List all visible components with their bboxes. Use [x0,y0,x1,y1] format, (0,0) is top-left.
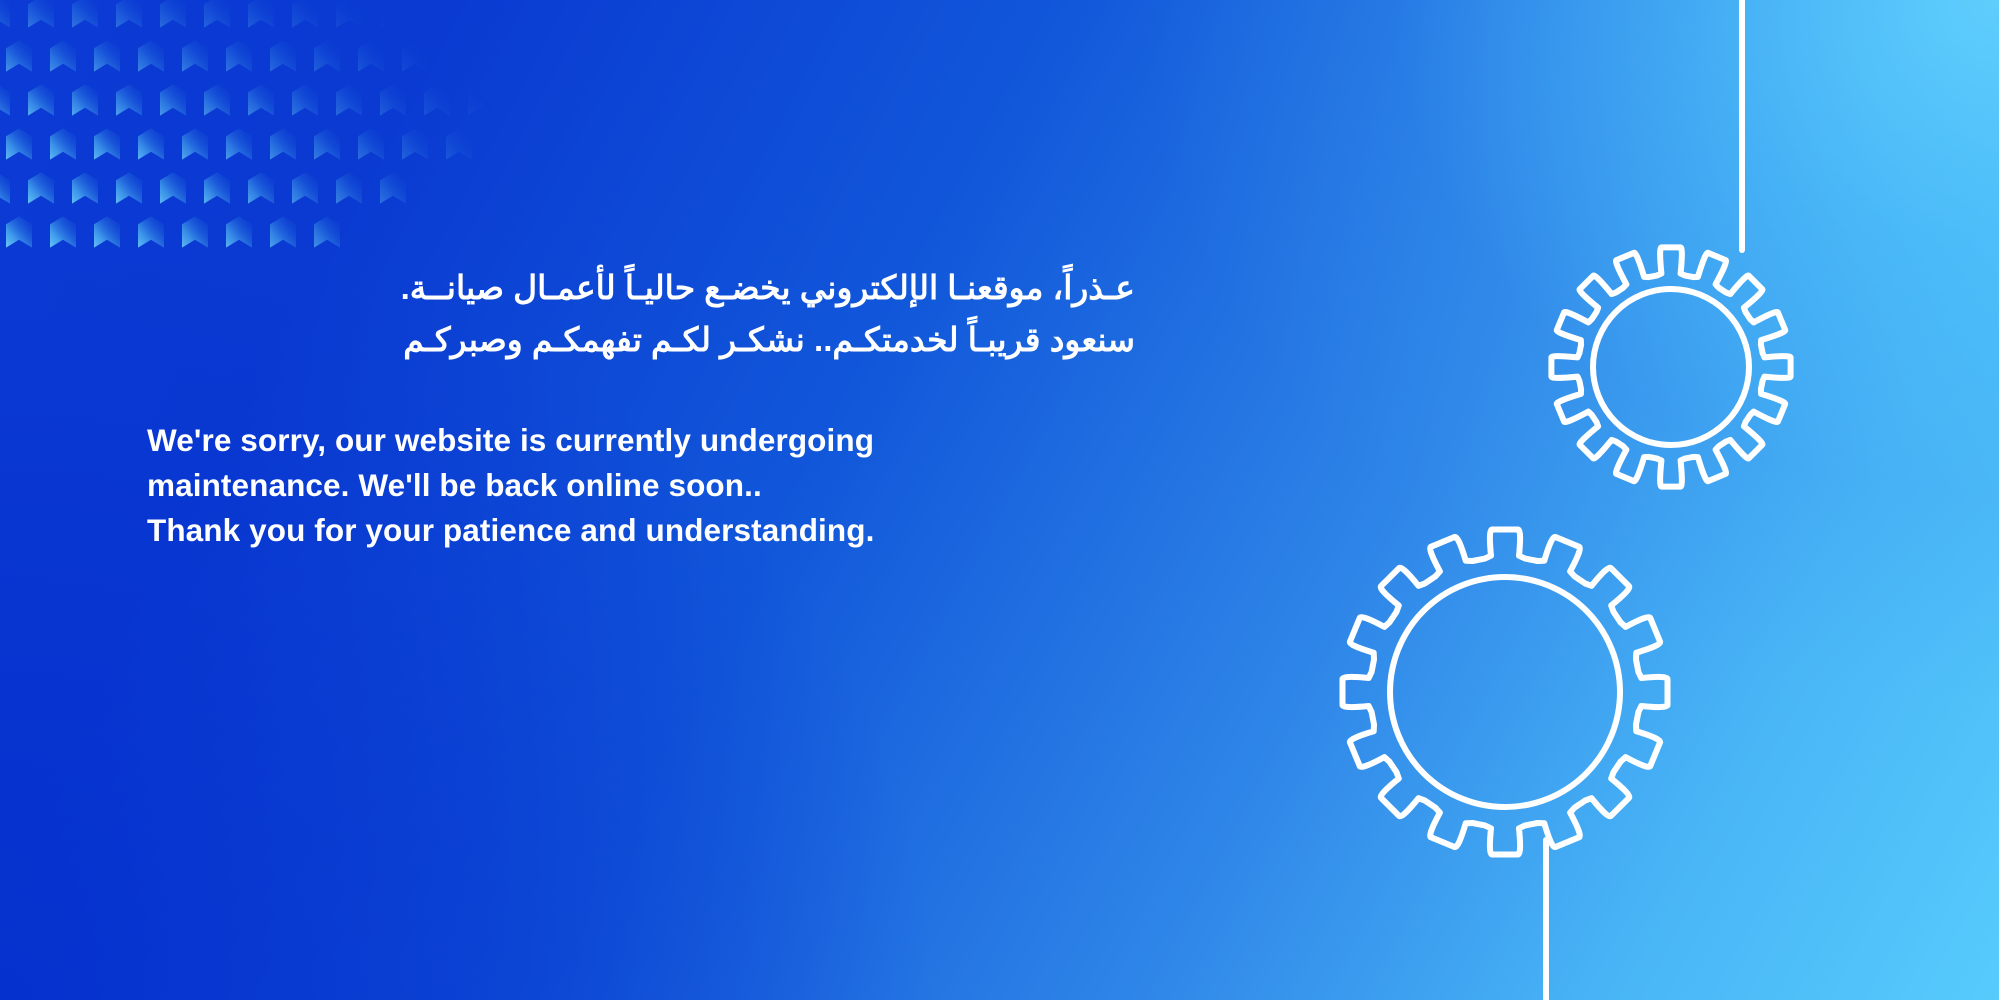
english-line-1: We're sorry, our website is currently un… [147,418,1147,463]
large-gear-inner-circle [1390,577,1620,807]
arabic-message: عـذراً، موقعنـا الإلكتروني يخضـع حاليـاً… [147,262,1135,366]
arabic-line-2: سنعود قريبـاً لخدمتكـم.. نشكـر لكـم تفهم… [147,314,1135,366]
arabic-line-1: عـذراً، موقعنـا الإلكتروني يخضـع حاليـاً… [147,262,1135,314]
small-gear-teeth [1551,247,1790,486]
large-gear [1343,530,1668,855]
english-line-2: maintenance. We'll be back online soon.. [147,463,1147,508]
maintenance-page: عـذراً، موقعنـا الإلكتروني يخضـع حاليـاً… [0,0,1999,1000]
chevron-grid [0,0,582,248]
english-message: We're sorry, our website is currently un… [147,418,1147,552]
large-gear-teeth [1343,530,1668,855]
small-gear [1551,247,1790,486]
chevron-pattern-decoration [0,0,600,280]
maintenance-message-block: عـذراً، موقعنـا الإلكتروني يخضـع حاليـاً… [147,262,1147,552]
english-line-3: Thank you for your patience and understa… [147,508,1147,553]
small-gear-inner-circle [1593,289,1749,445]
